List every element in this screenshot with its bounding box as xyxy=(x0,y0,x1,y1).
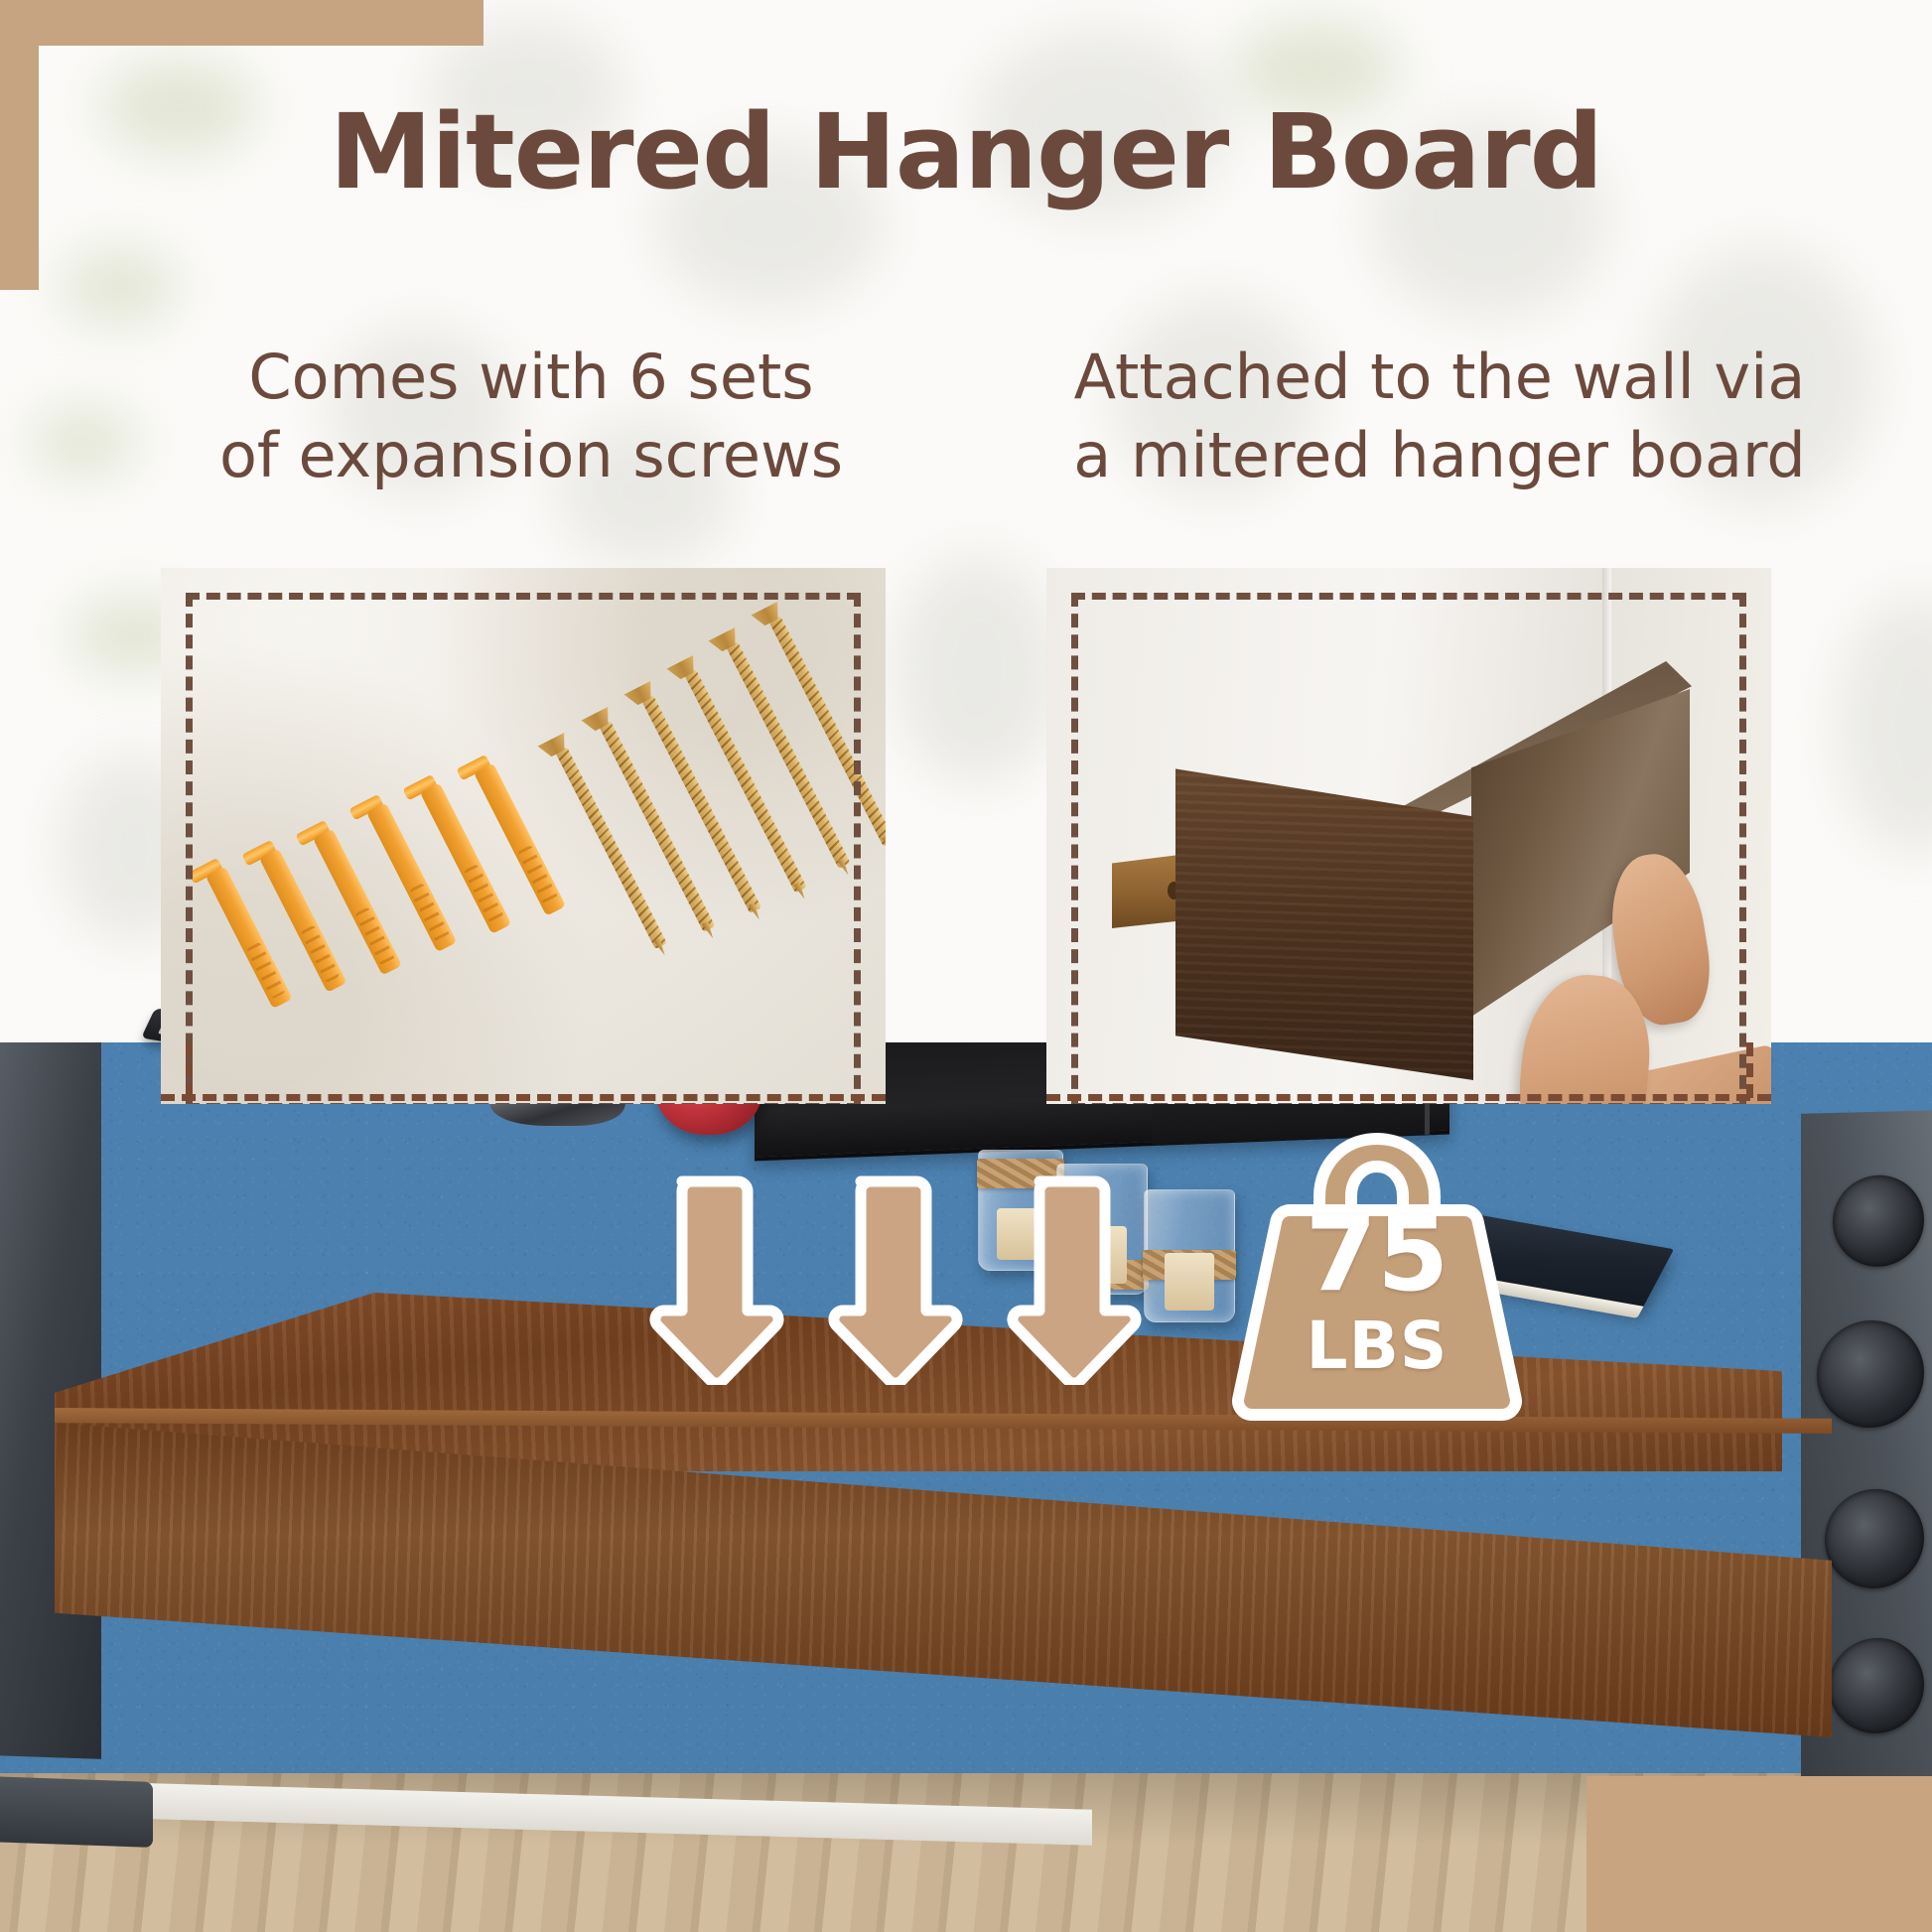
speaker-driver xyxy=(1817,1319,1924,1430)
arrow-down-icon xyxy=(814,1172,963,1385)
corner-accent-bottom-right xyxy=(1587,1776,1932,1932)
glass-jar-3 xyxy=(1144,1189,1235,1322)
corner-accent-top-left-horizontal xyxy=(0,0,483,46)
weight-unit: LBS xyxy=(1228,1313,1526,1379)
feature-caption-line1: Attached to the wall via xyxy=(993,338,1886,416)
expansion-screws-photo xyxy=(161,568,886,1104)
corner-accent-top-left-vertical xyxy=(0,0,39,290)
leaf-shadow xyxy=(60,248,179,326)
leaf-shadow xyxy=(894,556,1062,784)
arrow-down-icon xyxy=(635,1172,784,1385)
speaker-driver xyxy=(1829,1637,1924,1734)
speaker-driver xyxy=(1825,1488,1924,1589)
arrow-down-icon xyxy=(993,1172,1142,1385)
floor-speaker-left-base xyxy=(0,1776,153,1848)
page-title: Mitered Hanger Board xyxy=(0,91,1932,212)
weight-value: 75 xyxy=(1228,1202,1526,1306)
leaf-shadow xyxy=(30,407,139,477)
feature-caption-hanger-board: Attached to the wall via a mitered hange… xyxy=(993,338,1886,495)
feature-caption-expansion-screws: Comes with 6 sets of expansion screws xyxy=(139,338,923,495)
feature-caption-line2: of expansion screws xyxy=(139,416,923,494)
feature-caption-line1: Comes with 6 sets xyxy=(139,338,923,416)
feature-caption-line2: a mitered hanger board xyxy=(993,416,1886,494)
shelf-beam-grain xyxy=(1175,762,1473,1080)
weight-capacity-badge: 75 LBS xyxy=(1228,1125,1526,1433)
speaker-driver xyxy=(1833,1174,1924,1268)
leaf-shadow xyxy=(1837,596,1932,854)
hanger-board-mount-photo xyxy=(1046,568,1771,1104)
infographic-canvas: Mitered Hanger Board Comes with 6 sets o… xyxy=(0,0,1932,1932)
